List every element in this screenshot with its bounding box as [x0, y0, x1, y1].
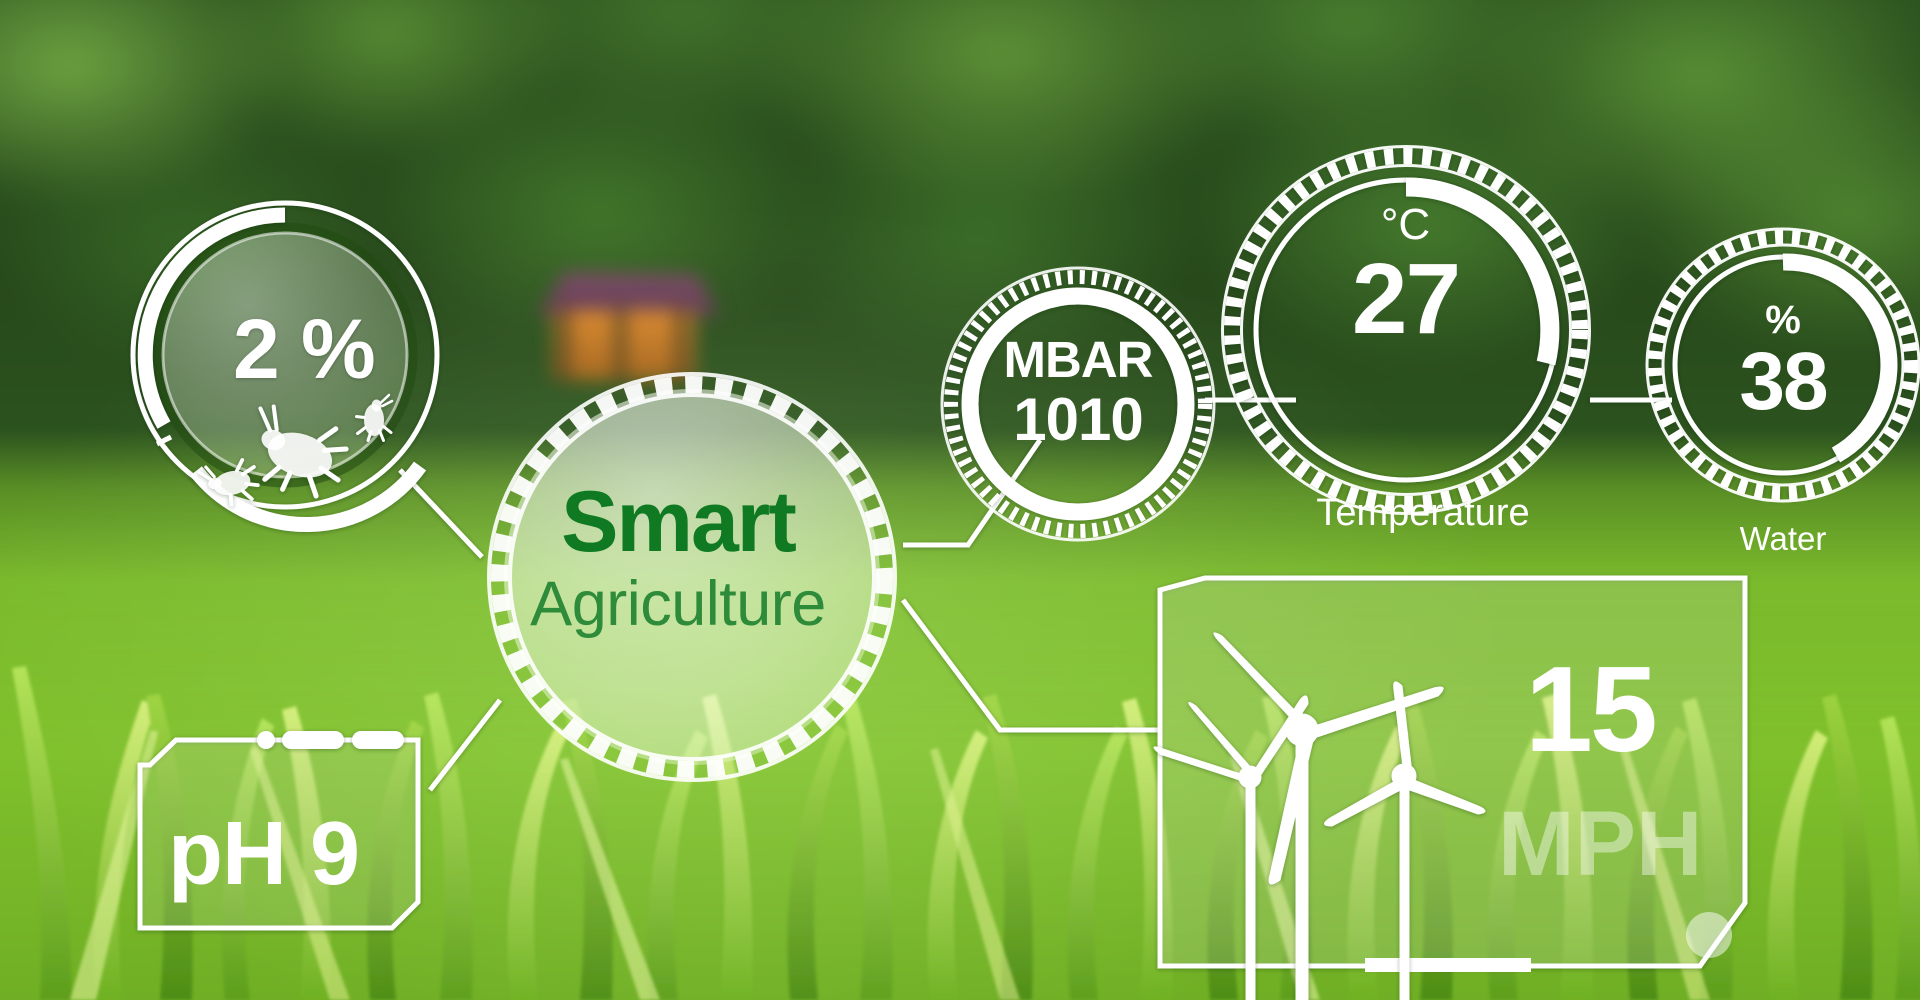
temperature-value-label: 27 — [1298, 242, 1513, 357]
pressure-readout: MBAR 1010 — [968, 330, 1188, 454]
pressure-unit-label: MBAR — [968, 330, 1188, 389]
water-caption: Water — [1683, 520, 1883, 558]
wind-unit-label: MPH — [1498, 798, 1702, 890]
water-value-label: 38 — [1688, 335, 1878, 429]
ph-value-label: pH 9 — [168, 809, 359, 899]
pest-value-label: 2 % — [233, 307, 375, 391]
temperature-readout: °C 27 — [1298, 200, 1513, 357]
dashboard-stage: 2 % Smart Agriculture MBAR 1010 °C 27 Te… — [0, 0, 1920, 1000]
smart-agriculture-title: Smart — [468, 482, 888, 564]
temperature-caption: Temperature — [1288, 492, 1558, 535]
smart-agriculture-label: Smart Agriculture — [468, 482, 888, 640]
smart-agriculture-subtitle: Agriculture — [468, 568, 888, 640]
wind-value-label: 15 — [1525, 648, 1655, 770]
pressure-value-label: 1010 — [968, 385, 1188, 454]
water-readout: % 38 — [1688, 298, 1878, 429]
wind-panel-dot — [1686, 912, 1732, 958]
wind-panel-bar — [1365, 958, 1531, 972]
